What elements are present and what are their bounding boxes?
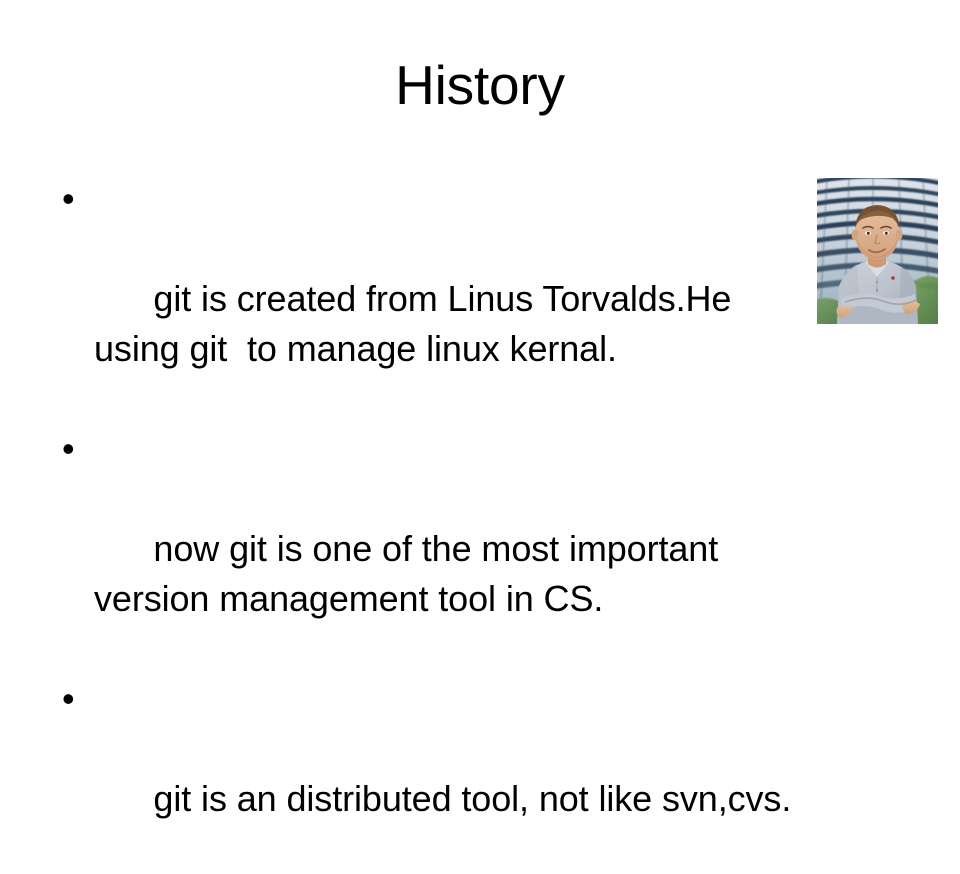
slide: History • git is created from Linus Torv… [0,0,960,720]
list-item-text: git is an distributed tool, not like svn… [153,778,791,819]
bullet-marker-icon: • [62,424,86,474]
list-item: • git is created from Linus Torvalds.He … [56,174,816,424]
list-item: • git is an distributed tool, not like s… [56,674,816,874]
list-item-text: git is created from Linus Torvalds.He us… [94,278,741,369]
list-item-text: now git is one of the most important ver… [94,528,728,619]
bullet-marker-icon: • [62,674,86,724]
linus-torvalds-photo [817,178,938,324]
bullet-list: • git is created from Linus Torvalds.He … [56,174,816,874]
page-title: History [0,54,960,116]
bullet-marker-icon: • [62,174,86,224]
list-item: • now git is one of the most important v… [56,424,816,674]
linus-torvalds-photo-graphic [817,178,938,324]
